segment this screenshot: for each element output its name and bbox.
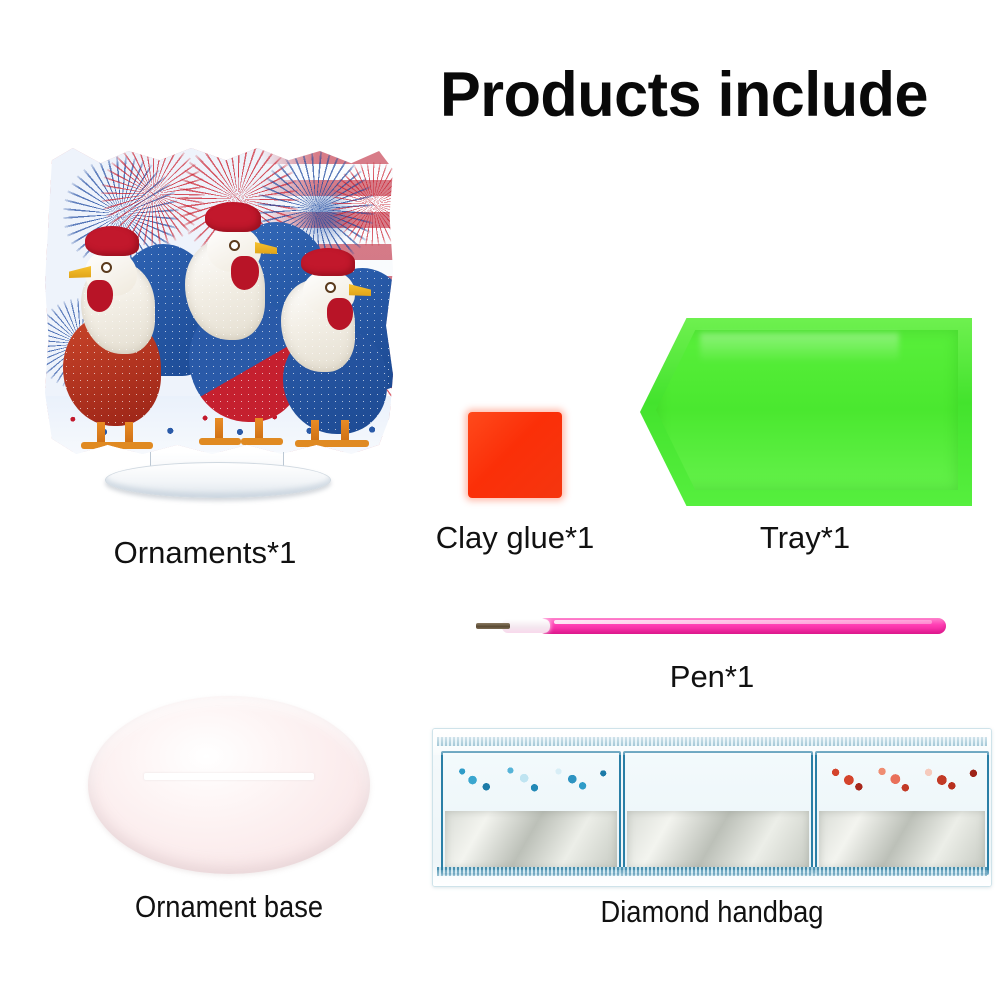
rooster-right	[267, 222, 393, 448]
gem-pouch-gold	[623, 751, 813, 875]
rooster-left-comb	[85, 226, 139, 256]
pen-label: Pen*1	[612, 660, 812, 694]
gold-pouch-foil	[627, 811, 809, 869]
gem-pouch-blue	[441, 751, 621, 875]
acrylic-stand-disc	[105, 462, 331, 498]
tray-label: Tray*1	[705, 521, 905, 555]
red-rhinestones	[819, 757, 985, 805]
diamond-pen	[476, 614, 946, 638]
oval-base	[88, 696, 370, 874]
clay-glue-square	[468, 412, 562, 498]
page-title: Products include	[440, 63, 988, 127]
ornament-art-panel	[45, 148, 393, 454]
rooster-left-foot-2	[111, 442, 153, 449]
ornament-base-label: Ornament base	[97, 890, 361, 924]
product-contents-poster: Products include	[0, 0, 1001, 1001]
oval-base-slot	[144, 773, 314, 780]
gold-rhinestones	[627, 757, 809, 805]
rooster-ornament-image	[45, 148, 393, 454]
diamond-tray	[640, 318, 972, 506]
gem-pouch-red	[815, 751, 989, 875]
diamond-bag	[432, 728, 992, 887]
pen-metal-tip	[476, 623, 510, 629]
bag-bottom-gloss	[433, 870, 991, 886]
rooster-right-comb	[301, 248, 355, 276]
rooster-center-eye	[229, 240, 240, 251]
ornaments-label: Ornaments*1	[55, 536, 355, 570]
tray-highlight	[700, 333, 899, 363]
rooster-center-comb	[205, 202, 261, 232]
rooster-right-foot-2	[327, 440, 369, 447]
clay-glue-label: Clay glue*1	[395, 521, 635, 555]
red-pouch-foil	[819, 811, 985, 869]
blue-rhinestones	[445, 757, 617, 805]
rooster-left-eye	[101, 262, 112, 273]
diamond-handbag-label: Diamond handbag	[580, 895, 844, 929]
pen-highlight	[554, 620, 932, 624]
rooster-center-foot-1	[199, 438, 241, 445]
bag-top-gloss	[433, 729, 991, 755]
rooster-right-eye	[325, 282, 336, 293]
blue-pouch-foil	[445, 811, 617, 869]
